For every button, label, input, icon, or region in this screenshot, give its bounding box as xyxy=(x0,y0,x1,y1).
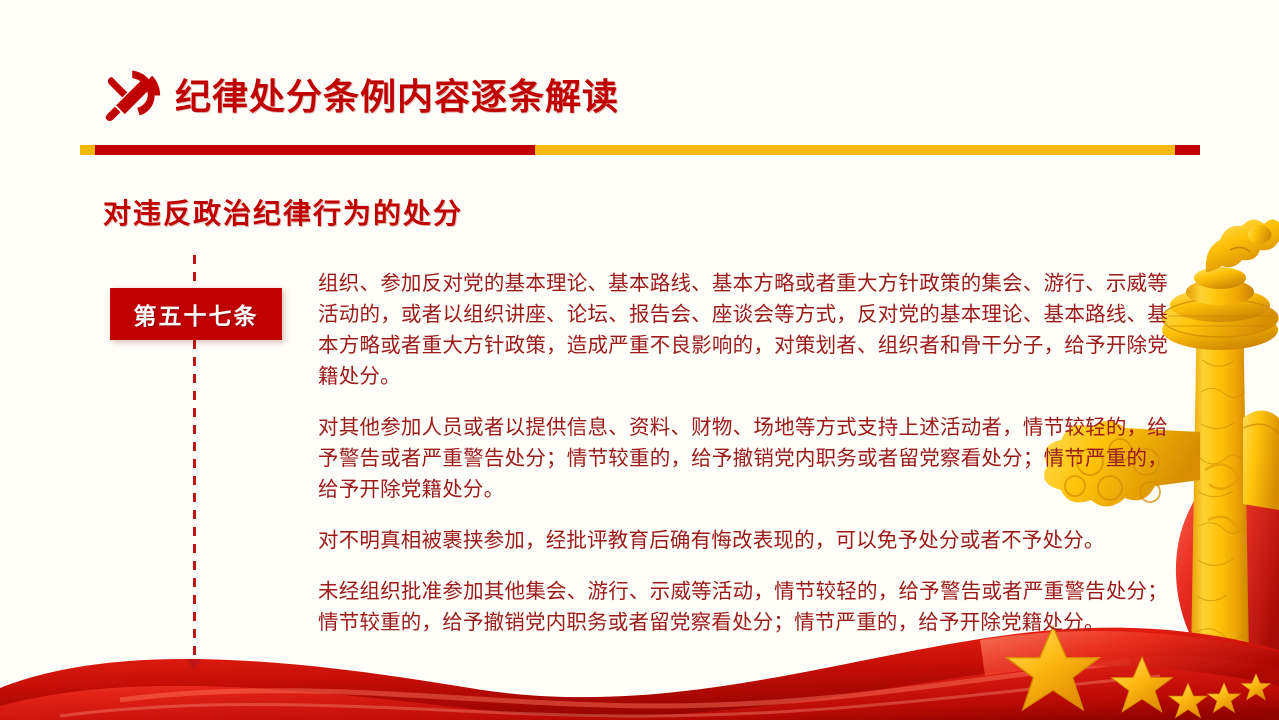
article-paragraph: 组织、参加反对党的基本理论、基本路线、基本方略或者重大方针政策的集会、游行、示威… xyxy=(318,268,1168,392)
article-number-badge[interactable]: 第五十七条 xyxy=(110,288,282,340)
pillar-capital xyxy=(1162,267,1278,350)
gold-star-large xyxy=(1007,627,1100,710)
article-paragraph: 对不明真相被裹挟参加，经批评教育后确有悔改表现的，可以免予处分或者不予处分。 xyxy=(318,525,1168,556)
gold-star-small-1 xyxy=(1169,683,1207,717)
page-title: 纪律处分条例内容逐条解读 xyxy=(175,68,619,120)
red-silk-ribbon-right xyxy=(1176,430,1279,700)
section-heading: 对违反政治纪律行为的处分 xyxy=(103,192,463,232)
red-silk-ribbon-bottom xyxy=(0,628,1279,720)
article-paragraph: 对其他参加人员或者以提供信息、资料、财物、场地等方式支持上述活动者，情节较轻的，… xyxy=(318,412,1168,505)
timeline-arrow-icon xyxy=(187,659,201,671)
article-paragraph: 未经组织批准参加其他集会、游行、示威等活动，情节较轻的，给予警告或者严重警告处分… xyxy=(318,576,1168,638)
hou-beast xyxy=(1206,219,1279,272)
gold-star-medium xyxy=(1112,657,1173,712)
article-number-label: 第五十七条 xyxy=(134,297,259,331)
gold-star-small-3 xyxy=(1241,674,1270,700)
cpc-hammer-sickle-emblem xyxy=(100,62,162,124)
header-divider xyxy=(80,145,1200,155)
divider-segment-gold xyxy=(535,145,1175,155)
divider-segment-red-right xyxy=(1175,145,1200,155)
gold-stars xyxy=(1007,627,1271,718)
slide-canvas: 纪律处分条例内容逐条解读 对违反政治纪律行为的处分 第五十七条 组织、参加反对党… xyxy=(0,0,1279,720)
slide-header: 纪律处分条例内容逐条解读 xyxy=(0,0,1279,165)
divider-segment-gold-left xyxy=(80,145,95,155)
gold-star-small-2 xyxy=(1208,683,1241,712)
divider-segment-red xyxy=(95,145,535,155)
article-body: 组织、参加反对党的基本理论、基本路线、基本方略或者重大方针政策的集会、游行、示威… xyxy=(318,268,1168,638)
